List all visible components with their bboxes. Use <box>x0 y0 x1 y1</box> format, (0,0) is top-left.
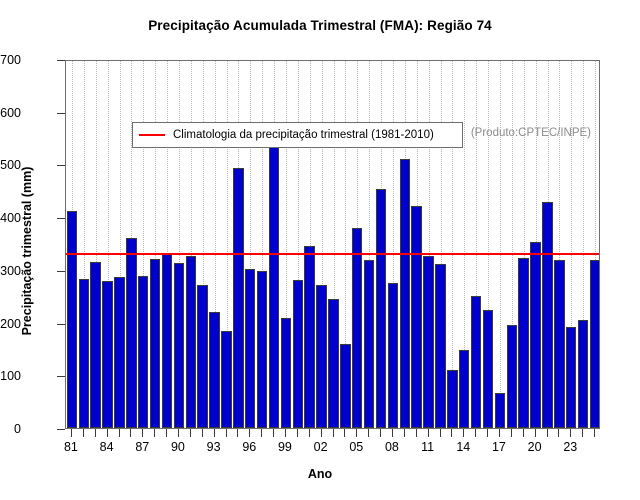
x-tick-mark <box>558 429 559 437</box>
x-tick-label: 93 <box>207 440 221 454</box>
x-tick-label: 17 <box>492 440 506 454</box>
x-tick-mark <box>249 429 250 437</box>
x-tick-mark <box>190 429 191 437</box>
y-tick-mark <box>57 218 65 219</box>
x-tick-mark <box>83 429 84 437</box>
bar <box>138 276 148 428</box>
y-tick-mark <box>57 60 65 61</box>
bar <box>186 256 196 428</box>
bar <box>67 211 77 428</box>
y-tick-mark <box>57 165 65 166</box>
x-tick-mark <box>130 429 131 437</box>
bar <box>90 262 100 428</box>
x-tick-label: 05 <box>349 440 363 454</box>
bar <box>245 269 255 428</box>
x-tick-mark <box>487 429 488 437</box>
x-tick-mark <box>344 429 345 437</box>
x-tick-mark <box>154 429 155 437</box>
x-tick-label: 20 <box>528 440 542 454</box>
plot-area: Climatologia da precipitação trimestral … <box>65 60 600 429</box>
x-tick-label: 87 <box>135 440 149 454</box>
x-tick-mark <box>511 429 512 437</box>
x-tick-mark <box>214 429 215 437</box>
bar <box>304 246 314 428</box>
chart-root: Precipitação Acumulada Trimestral (FMA):… <box>0 0 640 500</box>
x-tick-label: 08 <box>385 440 399 454</box>
x-tick-label: 14 <box>456 440 470 454</box>
bar <box>328 299 338 428</box>
legend: Climatologia da precipitação trimestral … <box>132 122 463 148</box>
x-tick-mark <box>178 429 179 437</box>
bar <box>174 263 184 428</box>
bar <box>376 189 386 428</box>
x-tick-mark <box>582 429 583 437</box>
x-tick-mark <box>321 429 322 437</box>
bar <box>495 393 505 428</box>
product-note: (Produto:CPTEC/INPE) <box>471 127 591 139</box>
bar-series <box>66 61 599 428</box>
y-tick-label: 200 <box>0 317 21 331</box>
bar <box>388 283 398 428</box>
climatology-reference-line <box>66 253 599 255</box>
x-tick-label: 02 <box>314 440 328 454</box>
bar <box>79 279 89 428</box>
bar <box>209 312 219 428</box>
bar <box>114 277 124 428</box>
bar <box>364 260 374 428</box>
x-tick-mark <box>261 429 262 437</box>
bar <box>530 242 540 428</box>
bar <box>102 281 112 428</box>
x-tick-label: 23 <box>563 440 577 454</box>
legend-line-swatch <box>139 134 165 136</box>
y-tick-label: 700 <box>0 53 21 67</box>
x-tick-label: 90 <box>171 440 185 454</box>
x-tick-mark <box>499 429 500 437</box>
x-tick-mark <box>451 429 452 437</box>
x-tick-mark <box>273 429 274 437</box>
bar <box>126 238 136 428</box>
bar <box>340 344 350 428</box>
bar <box>590 260 600 428</box>
bar <box>578 320 588 428</box>
y-tick-mark <box>57 271 65 272</box>
y-tick-label: 400 <box>0 211 21 225</box>
page-title: Precipitação Acumulada Trimestral (FMA):… <box>0 18 640 33</box>
x-tick-mark <box>380 429 381 437</box>
x-tick-mark <box>71 429 72 437</box>
x-tick-mark <box>440 429 441 437</box>
bar <box>197 285 207 428</box>
bar <box>435 264 445 428</box>
x-tick-mark <box>547 429 548 437</box>
x-tick-mark <box>285 429 286 437</box>
x-tick-mark <box>237 429 238 437</box>
x-tick-mark <box>475 429 476 437</box>
x-tick-mark <box>535 429 536 437</box>
x-tick-mark <box>416 429 417 437</box>
x-tick-mark <box>404 429 405 437</box>
x-tick-mark <box>166 429 167 437</box>
x-tick-mark <box>570 429 571 437</box>
bar <box>281 318 291 428</box>
x-tick-mark <box>297 429 298 437</box>
bar <box>518 258 528 428</box>
y-tick-label: 300 <box>0 264 21 278</box>
x-tick-mark <box>202 429 203 437</box>
bar <box>542 202 552 428</box>
bar <box>507 325 517 428</box>
bar <box>150 259 160 428</box>
bar <box>411 206 421 428</box>
x-tick-mark <box>309 429 310 437</box>
y-tick-mark <box>57 324 65 325</box>
bar <box>269 142 279 428</box>
bar <box>293 280 303 428</box>
x-tick-mark <box>119 429 120 437</box>
bar <box>554 260 564 428</box>
y-tick-label: 100 <box>0 369 21 383</box>
bar <box>447 370 457 429</box>
y-axis-title: Precipitação trimestral (mm) <box>20 66 34 436</box>
x-tick-label: 99 <box>278 440 292 454</box>
x-tick-mark <box>428 429 429 437</box>
bar <box>400 159 410 428</box>
x-tick-mark <box>523 429 524 437</box>
bar <box>352 228 362 428</box>
bar <box>257 271 267 428</box>
x-tick-label: 96 <box>242 440 256 454</box>
x-tick-mark <box>333 429 334 437</box>
x-tick-mark <box>594 429 595 437</box>
x-tick-mark <box>107 429 108 437</box>
x-tick-label: 81 <box>64 440 78 454</box>
bar <box>162 254 172 428</box>
bar <box>483 310 493 428</box>
y-tick-mark <box>57 113 65 114</box>
x-tick-mark <box>142 429 143 437</box>
bar <box>221 331 231 428</box>
x-tick-mark <box>463 429 464 437</box>
x-tick-mark <box>95 429 96 437</box>
x-axis-title: Ano <box>0 467 640 481</box>
legend-item-label: Climatologia da precipitação trimestral … <box>173 129 434 141</box>
x-tick-mark <box>368 429 369 437</box>
bar <box>316 285 326 428</box>
y-axis: Precipitação trimestral (mm) 01002003004… <box>0 0 65 500</box>
y-tick-label: 500 <box>0 158 21 172</box>
x-tick-label: 84 <box>100 440 114 454</box>
bar <box>459 350 469 428</box>
x-axis: Ano 818487909396990205081114172023 <box>0 429 640 500</box>
bar <box>566 327 576 428</box>
x-tick-mark <box>356 429 357 437</box>
y-tick-mark <box>57 376 65 377</box>
bar <box>233 168 243 428</box>
x-tick-label: 11 <box>421 440 434 454</box>
x-tick-mark <box>392 429 393 437</box>
x-tick-mark <box>226 429 227 437</box>
bar <box>423 256 433 428</box>
bar <box>471 296 481 428</box>
y-tick-label: 600 <box>0 106 21 120</box>
